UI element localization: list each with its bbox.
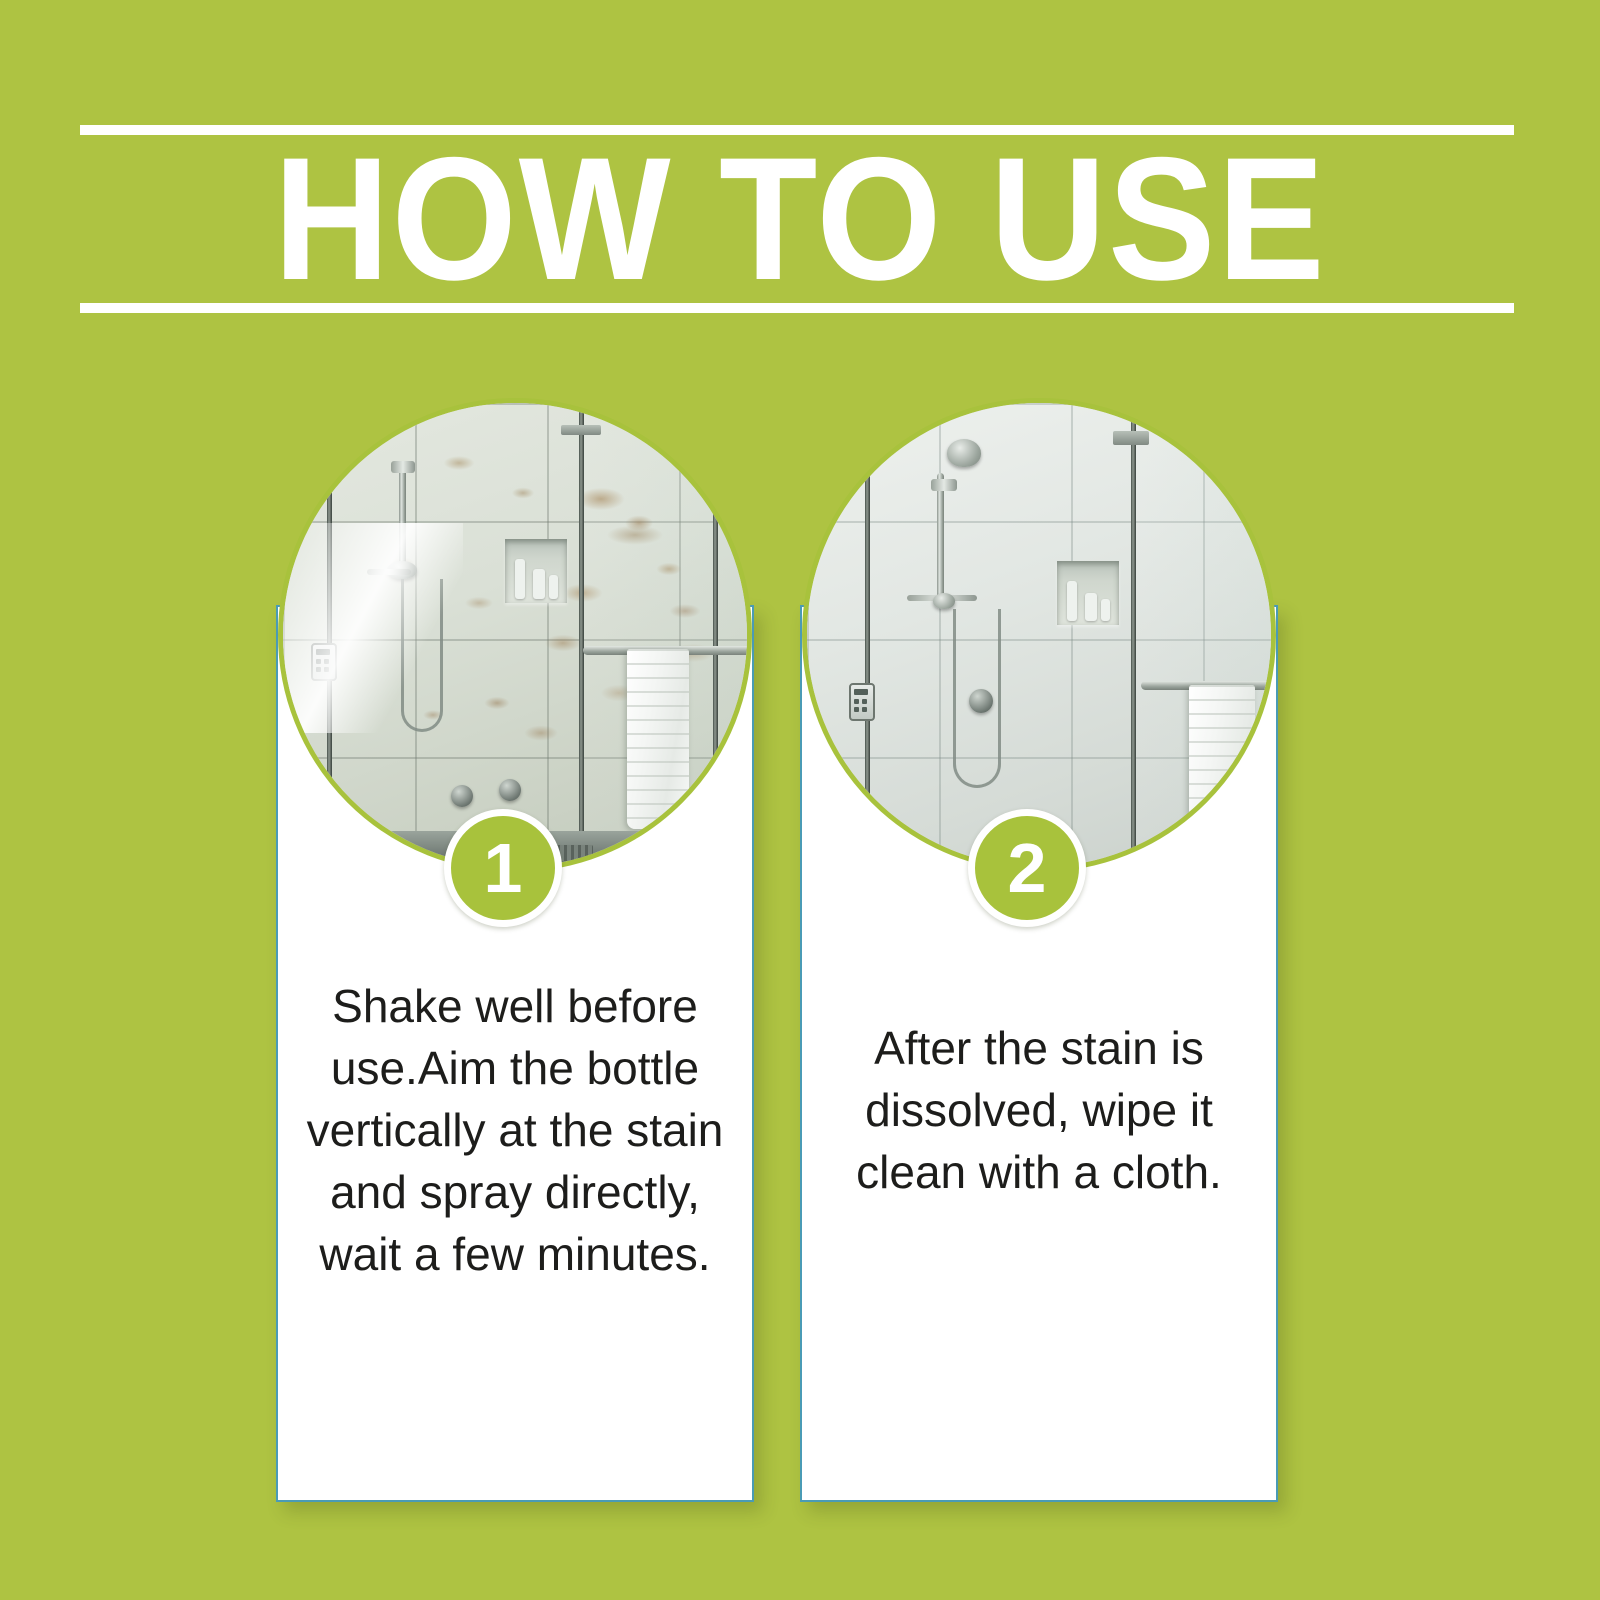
niche-bottle [1085, 593, 1097, 621]
glass-panel-edge [713, 403, 718, 867]
shower-hose [401, 579, 443, 732]
step-2-text: After the stain is dissolved, wipe it cl… [828, 1017, 1250, 1203]
shower-control-panel [849, 683, 875, 721]
shower-control-panel [311, 643, 337, 681]
glass-side-edge [327, 403, 332, 867]
towel [627, 649, 689, 829]
step-1-photo [278, 398, 752, 872]
niche-bottle [1101, 599, 1110, 621]
step-1-badge: 1 [444, 809, 562, 927]
tap-knob [499, 779, 521, 801]
steps-container: Shake well before use.Aim the bottle ver… [0, 0, 1600, 1600]
niche-bottle [549, 575, 558, 599]
niche-bottle [1067, 581, 1077, 621]
glass-door-edge [1131, 403, 1136, 867]
glass-side-edge [865, 403, 870, 867]
niche-bottle [515, 559, 525, 599]
tap-knob [451, 785, 473, 807]
step-2-badge: 2 [968, 809, 1086, 927]
niche-bottle [533, 569, 545, 599]
shower-before-image [283, 403, 747, 867]
shower-after-image [807, 403, 1271, 867]
tap-knob [969, 689, 993, 713]
shower-bracket [391, 461, 415, 473]
shower-slide-bar [937, 473, 944, 603]
door-hinge [561, 425, 601, 435]
step-1-text: Shake well before use.Aim the bottle ver… [304, 975, 726, 1285]
shower-bracket [931, 479, 957, 491]
glass-door-edge [579, 403, 584, 867]
towel [1189, 685, 1255, 865]
door-hinge [1113, 431, 1149, 445]
shower-head [947, 439, 981, 467]
wall-rail [367, 569, 411, 575]
hand-shower-holder [933, 593, 955, 609]
step-2-photo [802, 398, 1276, 872]
